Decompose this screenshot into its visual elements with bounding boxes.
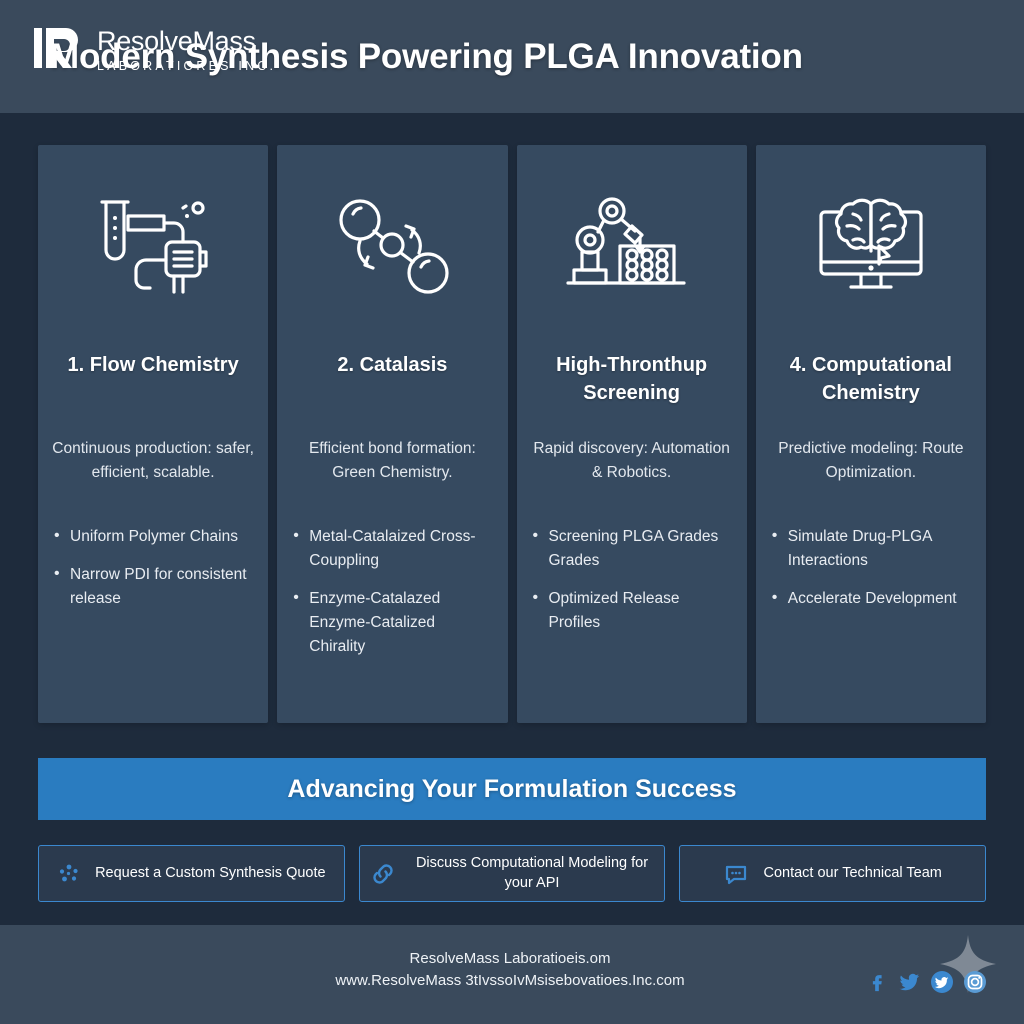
list-item: Uniform Polymer Chains	[52, 525, 254, 549]
list-item: Optimized Release Profiles	[531, 587, 733, 635]
footer-contact-text: ResolveMass Laboratioeis.om www.ResolveM…	[290, 948, 730, 992]
logo-name: ResolveMass	[97, 28, 276, 55]
card-description: Efficient bond formation: Green Chemistr…	[291, 437, 493, 489]
cta-label: Discuss Computational Modeling for your …	[410, 854, 655, 893]
cta-label: Contact our Technical Team	[763, 864, 941, 884]
flow-chemistry-reactor-icon	[52, 145, 254, 345]
cta-button-row: Request a Custom Synthesis Quote Discuss…	[38, 845, 986, 902]
card-description: Continuous production: safer, efficient,…	[52, 437, 254, 489]
card-title: 1. Flow Chemistry	[68, 351, 239, 409]
card-title: 4. Computational Chemistry	[770, 351, 972, 409]
card-description: Predictive modeling: Route Optimization.	[770, 437, 972, 489]
logo-subtitle: LABORATIORES INC.	[97, 60, 276, 73]
monitor-brain-icon	[770, 145, 972, 345]
cta-label: Request a Custom Synthesis Quote	[95, 864, 326, 884]
twitter-circle-icon[interactable]	[930, 970, 954, 994]
footer-line-2: www.ResolveMass 3tIvssoIvMsisebovatioes.…	[290, 970, 730, 992]
card-grid: 1. Flow Chemistry Continuous production:…	[38, 145, 986, 723]
list-item: Narrow PDI for consistent release	[52, 563, 254, 611]
pr-monogram-icon	[30, 22, 86, 79]
molecule-dots-icon	[57, 862, 81, 886]
logo-text: ResolveMass LABORATIORES INC.	[97, 28, 276, 73]
brand-logo[interactable]: ResolveMass LABORATIORES INC.	[30, 22, 276, 79]
contact-team-button[interactable]: Contact our Technical Team	[679, 845, 986, 902]
card-computational-chemistry[interactable]: 4. Computational Chemistry Predictive mo…	[756, 145, 986, 723]
social-links	[866, 970, 987, 994]
list-item: Simulate Drug-PLGA Interactions	[770, 525, 972, 573]
card-description: Rapid discovery: Automation & Robotics.	[531, 437, 733, 489]
card-high-throughput-screening[interactable]: High-Thronthup Screening Rapid discovery…	[517, 145, 747, 723]
facebook-icon[interactable]	[866, 971, 888, 993]
discuss-modeling-button[interactable]: Discuss Computational Modeling for your …	[359, 845, 666, 902]
list-item: Screening PLGA Grades Grades	[531, 525, 733, 573]
link-chain-icon	[370, 862, 396, 886]
list-item: Accelerate Development	[770, 587, 972, 611]
card-flow-chemistry[interactable]: 1. Flow Chemistry Continuous production:…	[38, 145, 268, 723]
instagram-icon[interactable]	[963, 970, 987, 994]
catalysis-molecule-icon	[291, 145, 493, 345]
twitter-icon[interactable]	[897, 971, 921, 993]
request-quote-button[interactable]: Request a Custom Synthesis Quote	[38, 845, 345, 902]
card-bullet-list: Simulate Drug-PLGA Interactions Accelera…	[770, 525, 972, 625]
card-title: 2. Catalasis	[337, 351, 447, 409]
card-bullet-list: Metal-Catalaized Cross-Couppling Enzyme-…	[291, 525, 493, 673]
robotic-arm-wellplate-icon	[531, 145, 733, 345]
card-bullet-list: Uniform Polymer Chains Narrow PDI for co…	[52, 525, 254, 625]
call-to-action-banner: Advancing Your Formulation Success	[38, 758, 986, 820]
card-title: High-Thronthup Screening	[531, 351, 733, 409]
card-catalysis[interactable]: 2. Catalasis Efficient bond formation: G…	[277, 145, 507, 723]
banner-text: Advancing Your Formulation Success	[287, 775, 736, 804]
card-bullet-list: Screening PLGA Grades Grades Optimized R…	[531, 525, 733, 649]
list-item: Metal-Catalaized Cross-Couppling	[291, 525, 493, 573]
chat-bubble-icon	[723, 862, 749, 886]
infographic-page: Modern Synthesis Powering PLGA Innovatio…	[0, 0, 1024, 1024]
footer-line-1: ResolveMass Laboratioeis.om	[290, 948, 730, 970]
list-item: Enzyme-Catalazed Enzyme-Catalized Chiral…	[291, 587, 493, 659]
